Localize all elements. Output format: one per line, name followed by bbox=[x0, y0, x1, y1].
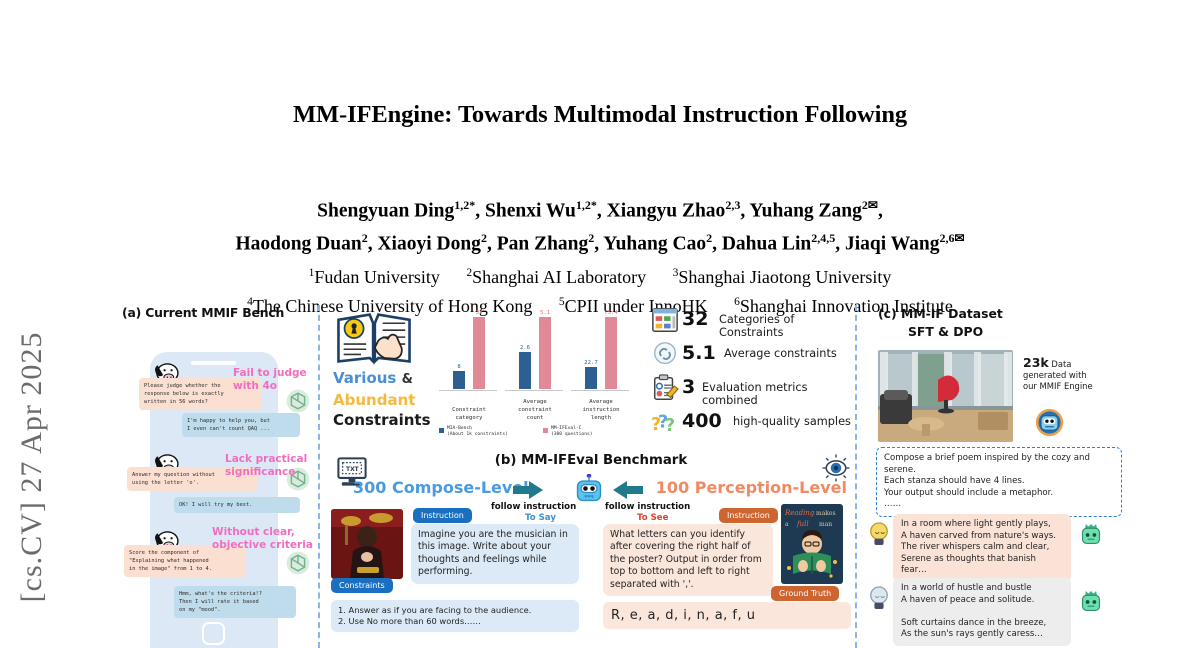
bar-group: 2.6 5.1 bbox=[505, 317, 565, 389]
bar-blue bbox=[453, 371, 465, 389]
headline-various: Various bbox=[333, 369, 396, 387]
panel-a-title: (a) Current MMIF Bench bbox=[122, 305, 284, 320]
author: Haodong Duan bbox=[235, 233, 361, 254]
constraints-bar-chart: 8 32 Constraint category 2.6 5.1 Average… bbox=[435, 307, 635, 442]
stat-row-samples: ? ? ? 400 high-quality samples bbox=[651, 407, 851, 441]
bar-value-pink: 5.1 bbox=[531, 310, 559, 316]
perception-ground-truth-text: R, e, a, d, i, n, a, f, u bbox=[603, 602, 851, 629]
panel-c-mm-if-dataset: (c) MM-IF Dataset SFT & DPO bbox=[868, 305, 1140, 648]
stat-number: 3 bbox=[682, 376, 695, 398]
open-book-icon bbox=[335, 307, 413, 369]
robot-icon bbox=[574, 474, 604, 504]
bar-value-pink: 32 bbox=[465, 310, 493, 316]
stat-number: 5.1 bbox=[682, 342, 716, 364]
author-sup: 2 bbox=[588, 231, 594, 245]
author: Shenxi Wu bbox=[485, 201, 576, 222]
arrow-right-icon bbox=[513, 481, 543, 499]
panel-b-container: Various & Abundant Constraints 8 32 Cons… bbox=[331, 305, 851, 648]
engine-robot-icon bbox=[1035, 408, 1064, 437]
lightbulb-dim-icon bbox=[868, 585, 890, 611]
various-abundant-headline: Various & Abundant Constraints bbox=[333, 368, 443, 430]
author: Xiaoyi Dong bbox=[377, 233, 480, 254]
panel-c-title-line1: (c) MM-IF Dataset bbox=[878, 306, 1003, 321]
svg-text:?: ? bbox=[665, 416, 675, 436]
compose-level-label: 300 Compose-Level bbox=[353, 478, 529, 497]
data-count-number: 23k bbox=[1023, 355, 1049, 370]
compose-level-example: Instruction Constraints follow instructi… bbox=[331, 502, 579, 648]
paper-header: MM-IFEngine: Towards Multimodal Instruct… bbox=[0, 0, 1200, 319]
bar-blue bbox=[519, 352, 531, 389]
stat-row-categories: 32 Categories of Constraints bbox=[651, 305, 851, 339]
openai-logo-icon bbox=[286, 389, 310, 413]
author-sup: 2 bbox=[362, 231, 368, 245]
bar-category-label: Average constraint count bbox=[505, 398, 565, 422]
bar-pink bbox=[473, 317, 485, 389]
perception-level-example: follow instruction To See Instruction Wh… bbox=[603, 502, 851, 648]
lightbulb-icon bbox=[868, 521, 890, 547]
page-title: MM-IFEngine: Towards Multimodal Instruct… bbox=[0, 101, 1200, 129]
dpo-chosen-answer: In a room where light gently plays, A ha… bbox=[893, 514, 1071, 582]
stat-row-average-constraints: 5.1 Average constraints bbox=[651, 339, 851, 373]
panel-c-title: (c) MM-IF Dataset SFT & DPO bbox=[868, 305, 1140, 341]
annotation-lack-significance: Lack practical significance bbox=[225, 453, 317, 478]
panel-divider-right bbox=[855, 305, 857, 648]
svg-text:man: man bbox=[819, 521, 832, 528]
author-line-2: Haodong Duan2, Xiaoyi Dong2, Pan Zhang2,… bbox=[0, 225, 1200, 258]
musician-thumbnail bbox=[331, 509, 403, 579]
affiliation-line-1: 1Fudan University 2Shanghai AI Laborator… bbox=[0, 261, 1200, 290]
levels-row: 300 Compose-Level 100 Perception-Level bbox=[331, 478, 851, 502]
categories-icon bbox=[651, 306, 679, 334]
compose-constraints-text: 1. Answer as if you are facing to the au… bbox=[331, 600, 579, 632]
openai-logo-icon bbox=[286, 551, 310, 575]
affil-name: Shanghai AI Laboratory bbox=[472, 267, 646, 287]
stats-list: 32 Categories of Constraints 5.1 Average… bbox=[651, 305, 851, 441]
author: Jiaqi Wang bbox=[845, 233, 939, 254]
green-robot-icon bbox=[1080, 524, 1102, 546]
data-count-caption: 23k Data generated with our MMIF Engine bbox=[1023, 357, 1093, 392]
follow-instruction-label-right: follow instruction bbox=[605, 502, 690, 512]
bar-group: 22.7 75.4 bbox=[571, 317, 631, 389]
tag-instruction: Instruction bbox=[719, 508, 778, 523]
panel-b-title: (b) MM-IFEval Benchmark bbox=[331, 453, 851, 468]
to-see-label: To See bbox=[637, 513, 668, 523]
bar-value-blue: 2.6 bbox=[511, 345, 539, 351]
dpo-rejected-answer: In a world of hustle and bustle A haven … bbox=[893, 578, 1071, 646]
arxiv-stamp: [cs.CV] 27 Apr 2025 bbox=[15, 297, 49, 637]
green-robot-icon bbox=[1080, 591, 1102, 613]
svg-text:Reading: Reading bbox=[784, 509, 815, 517]
tag-instruction: Instruction bbox=[413, 508, 472, 523]
arrow-left-icon bbox=[613, 481, 643, 499]
author-list: Shengyuan Ding1,2*, Shenxi Wu1,2*, Xiang… bbox=[0, 192, 1200, 257]
bar-category-label: Constraint category bbox=[439, 406, 499, 422]
to-say-label: To Say bbox=[525, 513, 556, 523]
bar-value-pink: 75.4 bbox=[597, 310, 625, 316]
affil-name: Shanghai Jiaotong University bbox=[678, 267, 891, 287]
clipboard-check-icon bbox=[651, 374, 679, 402]
legend-sublabel: (300 questions) bbox=[551, 432, 593, 437]
room-photo bbox=[878, 350, 1013, 442]
headline-abundant: Abundant bbox=[333, 391, 415, 409]
phone-speaker bbox=[191, 361, 236, 365]
stat-number: 32 bbox=[682, 308, 708, 330]
bar-group: 8 32 bbox=[439, 317, 499, 389]
author-line-1: Shengyuan Ding1,2*, Shenxi Wu1,2*, Xiang… bbox=[0, 192, 1200, 225]
link-constraint-icon bbox=[651, 340, 679, 368]
author-sup: 2,3 bbox=[725, 198, 740, 212]
stat-number: 400 bbox=[682, 410, 722, 432]
tag-ground-truth: Ground Truth bbox=[771, 586, 839, 601]
bar-category-label: Average instruction length bbox=[571, 398, 631, 422]
bar-pink bbox=[605, 317, 617, 389]
teaser-figure: (a) Current MMIF Bench bbox=[118, 305, 1140, 648]
legend-swatch-blue bbox=[439, 428, 444, 433]
affil-name: Fudan University bbox=[314, 267, 440, 287]
panel-a-current-mmif-bench: (a) Current MMIF Bench bbox=[118, 305, 314, 648]
legend-label: MM-IFEval-C bbox=[551, 426, 581, 431]
author: Xiangyu Zhao bbox=[607, 201, 726, 222]
stat-label: high-quality samples bbox=[733, 415, 851, 428]
stat-label: Evaluation metrics combined bbox=[702, 381, 851, 407]
chat-bubble-assistant: Hmm, what's the criteria!? Then I will r… bbox=[174, 586, 296, 618]
headline-constraints: Constraints bbox=[333, 411, 431, 429]
chat-bubble-assistant: OK! I will try my best. bbox=[174, 497, 300, 513]
perception-level-label: 100 Perception-Level bbox=[656, 478, 847, 497]
stat-row-evaluation-metrics: 3 Evaluation metrics combined bbox=[651, 373, 851, 407]
panel-divider-left bbox=[318, 305, 320, 648]
legend-sublabel: (About 1k constraints) bbox=[447, 432, 508, 437]
legend-swatch-pink bbox=[543, 428, 548, 433]
dataset-prompt-box: Compose a brief poem inspired by the coz… bbox=[876, 447, 1122, 517]
annotation-no-criteria: Without clear, objective criteria bbox=[212, 526, 320, 551]
stat-label: Average constraints bbox=[724, 347, 837, 360]
stat-label: Categories of Constraints bbox=[719, 313, 851, 339]
author: Yuhang Zang bbox=[749, 201, 862, 222]
svg-text:full: full bbox=[796, 520, 809, 528]
chart-legend: MIA-Bench(About 1k constraints) MM-IFEva… bbox=[435, 426, 635, 442]
author: Shengyuan Ding bbox=[317, 201, 454, 222]
author-sup: 1,2* bbox=[576, 198, 597, 212]
phone-home-button[interactable] bbox=[202, 622, 225, 645]
bar-value-blue: 22.7 bbox=[577, 360, 605, 366]
legend-label: MIA-Bench bbox=[447, 426, 472, 431]
author-sup: 2 bbox=[481, 231, 487, 245]
annotation-fail-to-judge: Fail to judge with 4o bbox=[233, 367, 317, 392]
author-sup: 2✉ bbox=[862, 198, 878, 212]
chat-bubble-assistant: I'm happy to help you, but I even can't … bbox=[182, 413, 300, 437]
poster-thumbnail: Reading makes a full man bbox=[781, 504, 843, 584]
tag-constraints: Constraints bbox=[331, 578, 393, 593]
author-sup: 2,6✉ bbox=[940, 231, 965, 245]
svg-text:makes: makes bbox=[816, 510, 836, 517]
author-sup: 2 bbox=[706, 231, 712, 245]
bar-blue bbox=[585, 367, 597, 389]
author-sup: 1,2* bbox=[454, 198, 475, 212]
follow-instruction-label-left: follow instruction bbox=[491, 502, 576, 512]
bar-value-blue: 8 bbox=[445, 364, 473, 370]
bar-pink bbox=[539, 317, 551, 389]
svg-text:a: a bbox=[785, 521, 789, 528]
author: Yuhang Cao bbox=[603, 233, 706, 254]
compose-instruction-text: Imagine you are the musician in this ima… bbox=[411, 524, 579, 584]
panel-c-title-line2: SFT & DPO bbox=[878, 323, 1140, 341]
author: Dahua Lin bbox=[722, 233, 811, 254]
perception-instruction-text: What letters can you identify after cove… bbox=[603, 524, 773, 596]
author: Pan Zhang bbox=[497, 233, 589, 254]
headline-amp: & bbox=[402, 372, 413, 387]
question-marks-icon: ? ? ? bbox=[651, 408, 679, 436]
author-sup: 2,4,5 bbox=[811, 231, 835, 245]
